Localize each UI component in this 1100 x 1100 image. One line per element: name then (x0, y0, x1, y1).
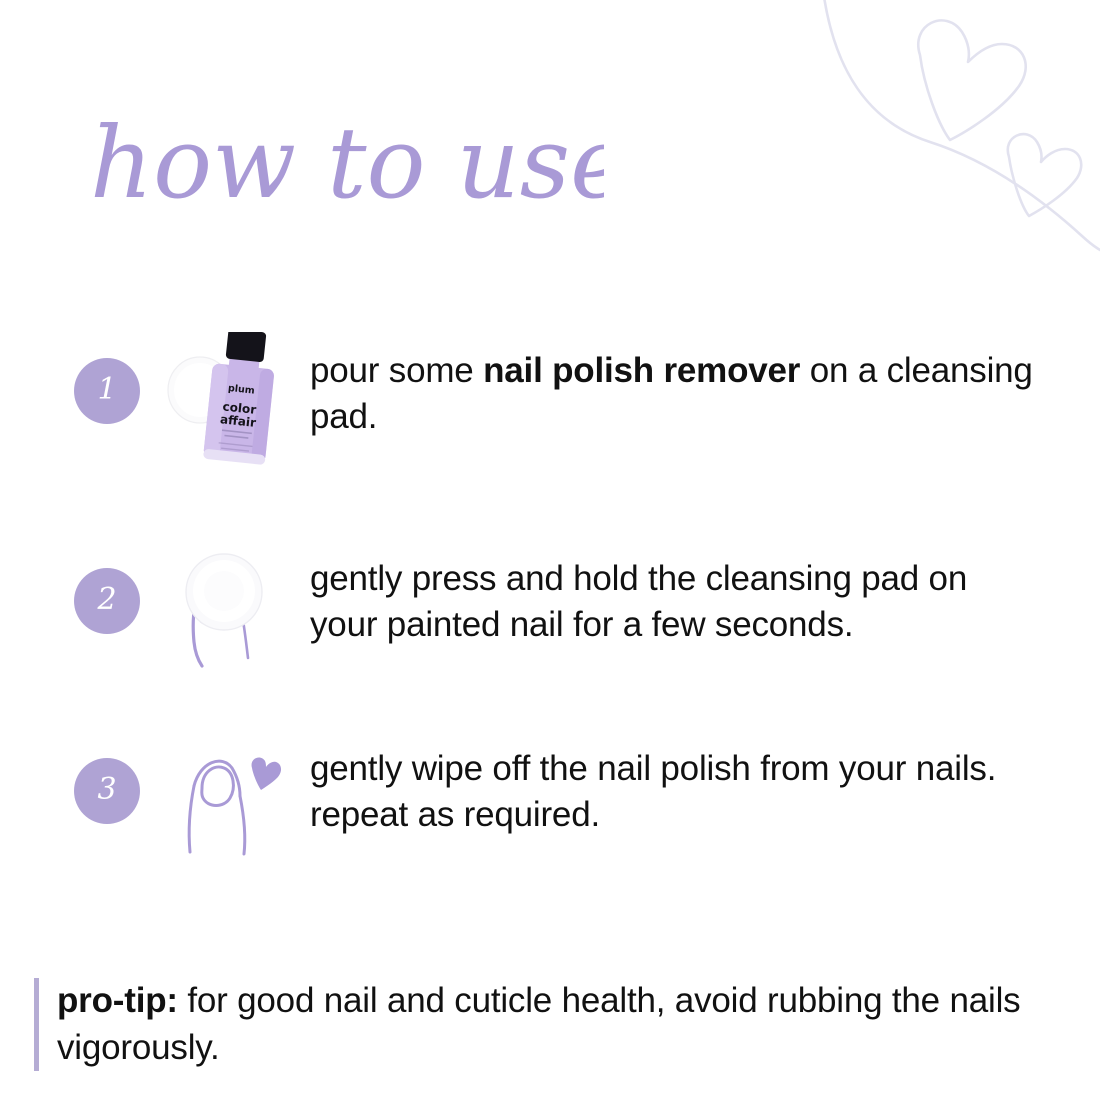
pro-tip-callout: pro-tip: for good nail and cuticle healt… (34, 978, 1054, 1071)
finger-with-heart-icon (166, 736, 296, 866)
step-2-number: 2 (74, 568, 140, 634)
step-3-illustration (166, 736, 296, 866)
pro-tip-body: for good nail and cuticle health, avoid … (57, 981, 1020, 1067)
step-1-text: pour some nail polish remover on a clean… (310, 332, 1034, 440)
finger-left-edge (189, 786, 194, 852)
step-1-number: 1 (74, 358, 140, 424)
hearts-decoration (790, 0, 1100, 265)
step-1-badge: 1 (74, 358, 140, 424)
bottle-cap (226, 332, 267, 362)
hearts-line-art-icon (790, 0, 1100, 265)
step-1-text-bold: nail polish remover (483, 351, 800, 390)
step-2-illustration (166, 546, 296, 676)
pro-tip-label: pro-tip: (57, 981, 178, 1020)
step-1: 1 plum color affair (74, 332, 1034, 482)
finger-right-edge (240, 796, 245, 854)
step-3: 3 gently wipe off the nail polish from y… (74, 732, 1034, 866)
pro-tip-text: pro-tip: for good nail and cuticle healt… (57, 978, 1054, 1071)
how-to-use-infographic: how to use 1 (0, 0, 1100, 1100)
pro-tip-accent-bar (34, 978, 39, 1071)
nail-polish-bottle-icon: plum color affair (166, 332, 296, 482)
step-3-number: 3 (74, 758, 140, 824)
cotton-pad-center (204, 571, 244, 611)
step-3-text: gently wipe off the nail polish from you… (310, 732, 1034, 838)
page-title: how to use (84, 92, 604, 232)
nail-outline (202, 767, 234, 806)
cotton-pad-on-nail-icon (166, 546, 296, 676)
step-2: 2 gently press and hold the cleansing pa… (74, 542, 1034, 676)
step-3-badge: 3 (74, 758, 140, 824)
page-title-script: how to use (84, 92, 604, 232)
page-title-text: how to use (90, 107, 604, 221)
step-1-illustration: plum color affair (166, 332, 296, 482)
step-2-badge: 2 (74, 568, 140, 634)
step-2-text: gently press and hold the cleansing pad … (310, 542, 1034, 648)
step-1-text-part-1: pour some (310, 351, 483, 390)
heart-icon (252, 757, 282, 790)
